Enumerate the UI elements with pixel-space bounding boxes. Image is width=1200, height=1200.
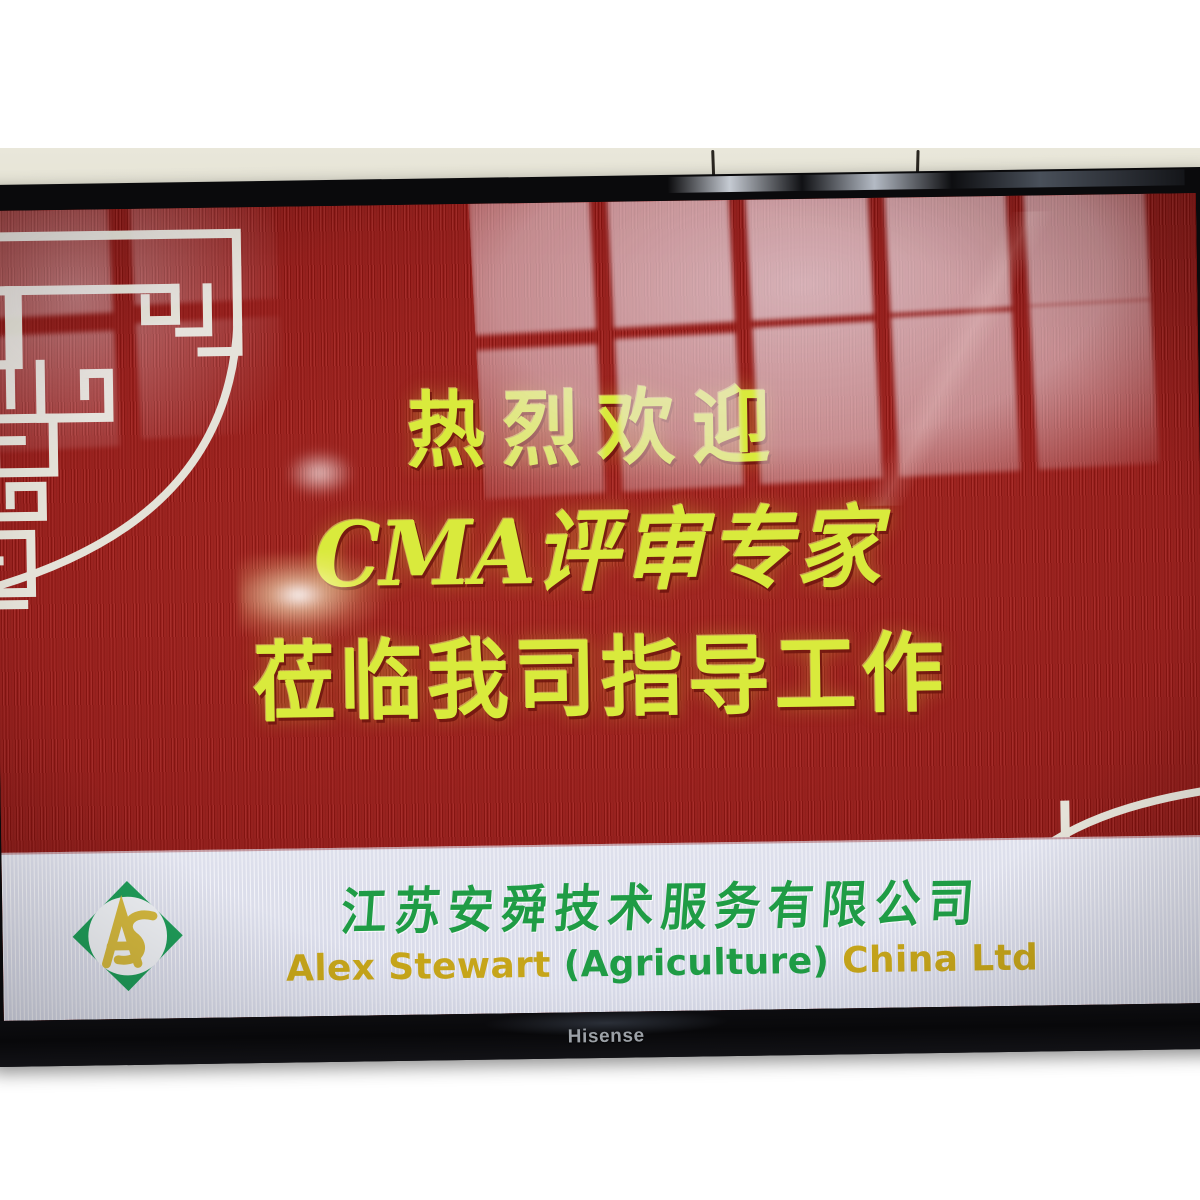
company-name-en-part2: (Agriculture)	[563, 941, 829, 986]
headline-line-2-en: CMA	[314, 499, 536, 607]
company-name-en-part3: China Ltd	[842, 938, 1039, 982]
company-name-cn: 江苏安舜技术服务有限公司	[338, 863, 984, 945]
headline-line-2: CMA评审专家	[313, 476, 884, 613]
company-name-en: Alex Stewart (Agriculture) China Ltd	[286, 938, 1039, 990]
alex-stewart-diamond-logo	[68, 876, 188, 996]
headline-line-2-cn: 评审专家	[534, 495, 885, 604]
headline-line-1: 热烈欢迎	[406, 360, 788, 484]
slide-headline-block: 热烈欢迎 CMA评审专家 莅临我司指导工作	[0, 193, 1200, 855]
headline-line-3: 莅临我司指导工作	[252, 602, 949, 738]
company-name-en-part1: Alex Stewart	[286, 945, 551, 990]
photograph: 热烈欢迎 CMA评审专家 莅临我司指导工作	[0, 0, 1200, 1200]
television: 热烈欢迎 CMA评审专家 莅临我司指导工作	[0, 167, 1200, 1067]
slide-footer-banner: 江苏安舜技术服务有限公司 Alex Stewart (Agriculture) …	[1, 835, 1200, 1021]
tv-screen: 热烈欢迎 CMA评审专家 莅临我司指导工作	[0, 193, 1200, 1021]
